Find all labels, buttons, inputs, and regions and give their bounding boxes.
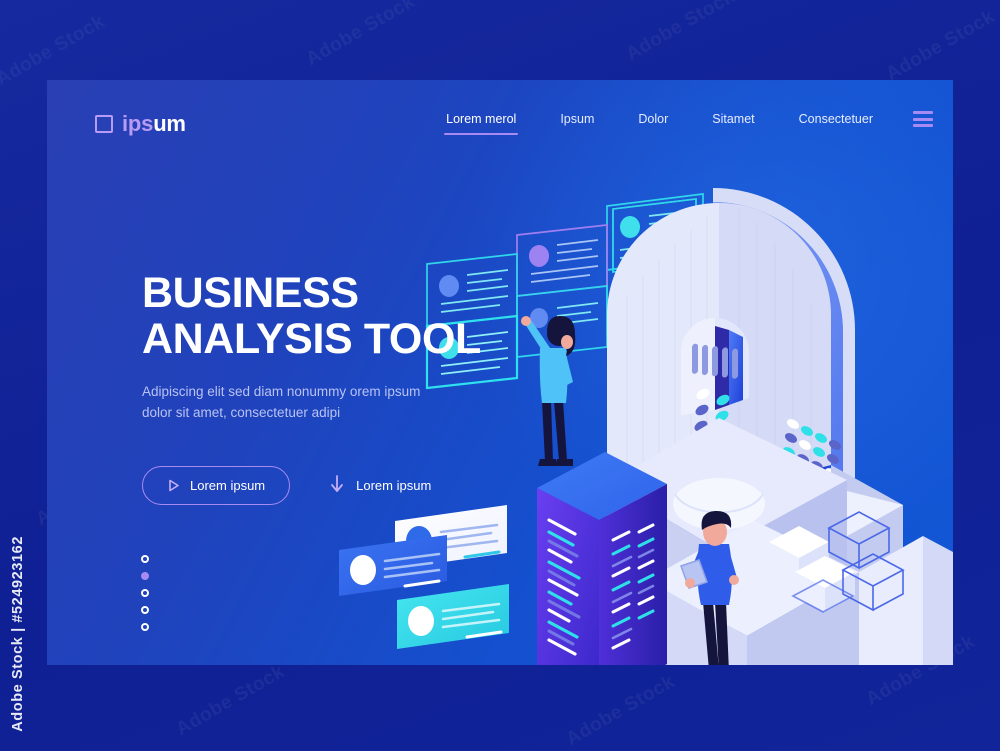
carousel-dot-2[interactable] — [141, 572, 149, 580]
watermark-text: Adobe Stock — [303, 0, 419, 71]
site-header: ipsum Lorem merol Ipsum Dolor Sitamet Co… — [47, 106, 953, 146]
subtitle-line-1: Adipiscing elit sed diam nonummy orem ip… — [142, 384, 420, 399]
download-arrow-icon — [330, 475, 344, 496]
carousel-dot-5[interactable] — [141, 623, 149, 631]
stock-credit-label: Adobe Stock | #524923162 — [10, 536, 26, 732]
carousel-dot-1[interactable] — [141, 555, 149, 563]
square-outline-icon — [95, 115, 113, 133]
secondary-cta-link[interactable]: Lorem ipsum — [330, 475, 431, 496]
primary-cta-label: Lorem ipsum — [190, 478, 265, 493]
watermark-text: Adobe Stock — [173, 661, 289, 741]
title-line-1: BUSINESS — [142, 269, 359, 317]
logo[interactable]: ipsum — [95, 111, 186, 137]
carousel-dot-4[interactable] — [141, 606, 149, 614]
play-icon — [167, 479, 180, 492]
chat-notification-cards — [339, 505, 509, 649]
hero-subtitle: Adipiscing elit sed diam nonummy orem ip… — [142, 382, 522, 424]
logo-text-part1: ips — [122, 111, 153, 136]
subtitle-line-2: dolor sit amet, consectetuer adipi — [142, 405, 340, 420]
nav-item-ipsum[interactable]: Ipsum — [538, 106, 616, 132]
watermark-text: Adobe Stock — [563, 671, 679, 751]
logo-text-part2: um — [153, 111, 186, 136]
title-line-2: ANALYSIS TOOL — [142, 315, 481, 363]
nav-item-consectetuer[interactable]: Consectetuer — [777, 106, 895, 132]
main-navigation: Lorem merol Ipsum Dolor Sitamet Consecte… — [424, 106, 943, 132]
page-background: Adobe Stock Adobe Stock Adobe Stock Adob… — [0, 0, 1000, 750]
nav-item-lorem-merol[interactable]: Lorem merol — [424, 106, 538, 132]
nav-item-dolor[interactable]: Dolor — [616, 106, 690, 132]
cta-row: Lorem ipsum Lorem ipsum — [142, 466, 522, 505]
nav-item-sitamet[interactable]: Sitamet — [690, 106, 776, 132]
watermark-text: Adobe Stock — [623, 0, 739, 66]
hamburger-menu-icon[interactable] — [913, 111, 933, 127]
watermark-text: Adobe Stock — [883, 6, 999, 86]
woman-figure — [521, 316, 575, 466]
page-title: BUSINESS ANALYSIS TOOL — [142, 270, 522, 362]
watermark-text: Adobe Stock — [0, 11, 109, 91]
carousel-dots — [141, 555, 149, 631]
hero-panel: ipsum Lorem merol Ipsum Dolor Sitamet Co… — [47, 80, 953, 665]
purple-data-tower — [537, 452, 667, 665]
carousel-dot-3[interactable] — [141, 589, 149, 597]
hero-copy: BUSINESS ANALYSIS TOOL Adipiscing elit s… — [142, 270, 522, 505]
secondary-cta-label: Lorem ipsum — [356, 478, 431, 493]
primary-cta-button[interactable]: Lorem ipsum — [142, 466, 290, 505]
